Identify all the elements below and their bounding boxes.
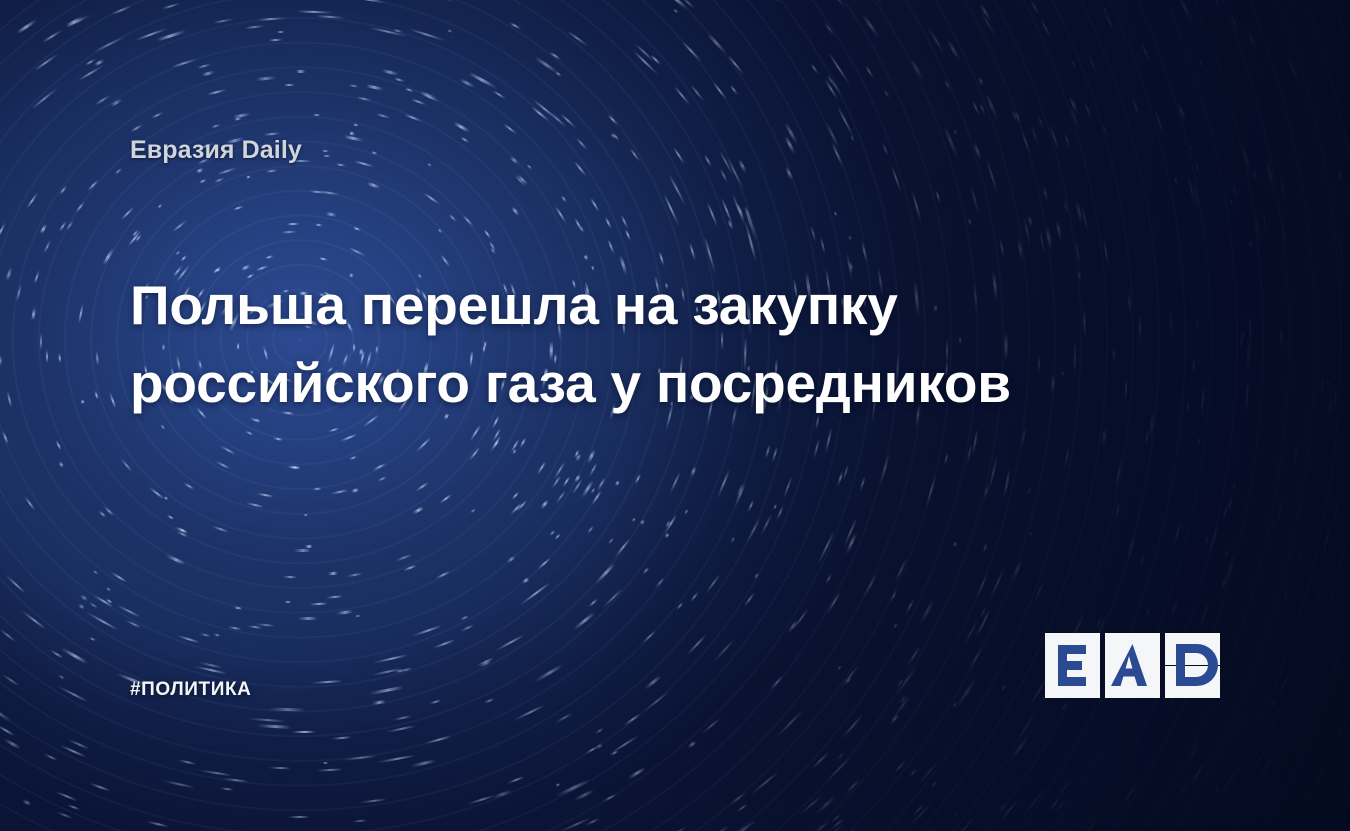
category-tag-politics[interactable]: #ПОЛИТИКА	[130, 679, 252, 701]
logo-letter-e	[1058, 645, 1086, 686]
eadaily-logo[interactable]	[1045, 633, 1221, 698]
cover-content: Евразия Daily Польша перешла на закупку …	[0, 0, 1350, 831]
site-brand-name[interactable]: Евразия Daily	[130, 136, 302, 165]
page-title: Польша перешла на закупку российского га…	[130, 266, 1030, 422]
article-cover-card: Евразия Daily Польша перешла на закупку …	[0, 0, 1350, 831]
